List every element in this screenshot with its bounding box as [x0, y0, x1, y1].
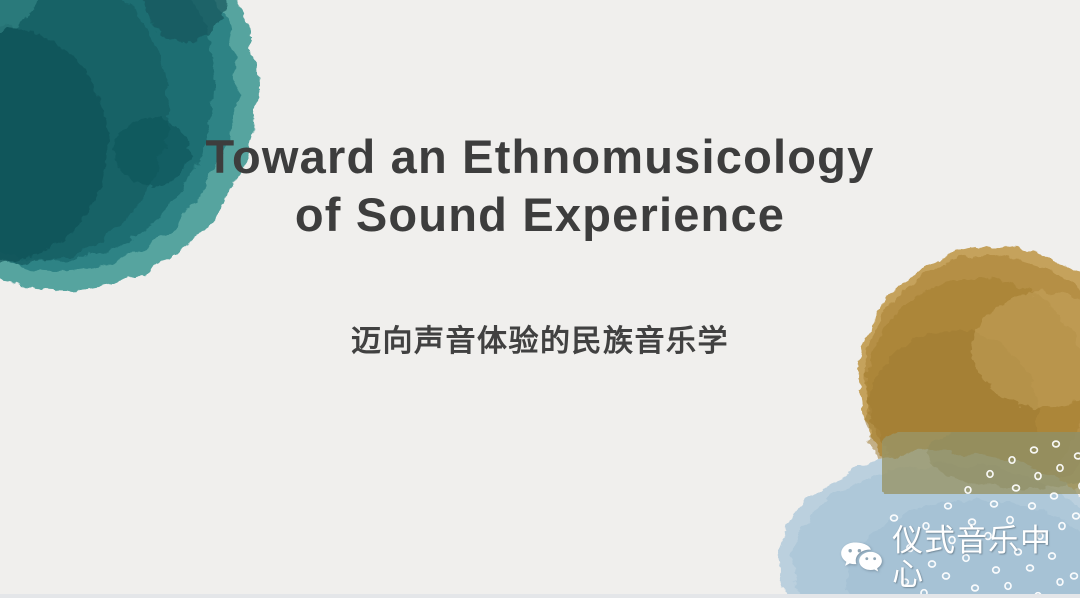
slide-title: Toward an Ethnomusicology of Sound Exper… — [0, 128, 1080, 244]
title-line-1: Toward an Ethnomusicology — [0, 128, 1080, 186]
watermark-label: 仪式音乐中心 — [892, 524, 1080, 592]
wechat-watermark: 仪式音乐中心 — [840, 524, 1080, 592]
presentation-slide: Toward an Ethnomusicology of Sound Exper… — [0, 0, 1080, 598]
title-line-2: of Sound Experience — [0, 186, 1080, 244]
wechat-icon — [840, 540, 883, 576]
subtitle-text: 迈向声音体验的民族音乐学 — [351, 322, 729, 362]
gold-watercolor-blob — [845, 238, 1080, 528]
bottom-edge-strip — [0, 594, 1080, 598]
slide-subtitle: 迈向声音体验的民族音乐学 — [0, 322, 1080, 362]
